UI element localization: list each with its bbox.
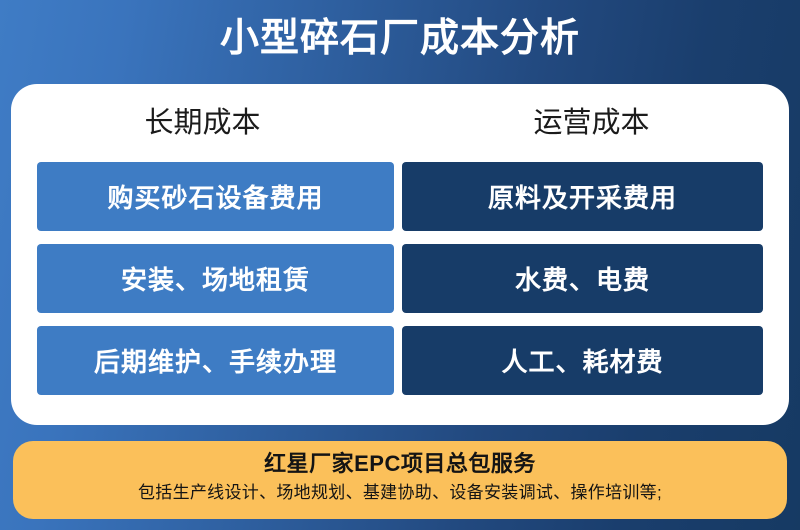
cost-row: 后期维护、手续办理 人工、耗材费 — [37, 326, 763, 395]
cost-item-long-term-1: 购买砂石设备费用 — [37, 162, 394, 231]
cost-item-long-term-3: 后期维护、手续办理 — [37, 326, 394, 395]
cost-comparison-card: 长期成本 运营成本 购买砂石设备费用 原料及开采费用 安装、场地租赁 水费、电费… — [11, 84, 789, 425]
cost-row: 购买砂石设备费用 原料及开采费用 — [37, 162, 763, 231]
cost-items-grid: 购买砂石设备费用 原料及开采费用 安装、场地租赁 水费、电费 后期维护、手续办理… — [37, 162, 763, 395]
footer-banner: 红星厂家EPC项目总包服务 包括生产线设计、场地规划、基建协助、设备安装调试、操… — [13, 441, 787, 519]
cost-item-operating-2: 水费、电费 — [402, 244, 763, 313]
page-title: 小型碎石厂成本分析 — [0, 14, 800, 64]
cost-item-long-term-2: 安装、场地租赁 — [37, 244, 394, 313]
column-header-operating: 运营成本 — [394, 101, 789, 145]
column-headers: 长期成本 运营成本 — [11, 101, 789, 145]
cost-item-operating-3: 人工、耗材费 — [402, 326, 763, 395]
footer-subtitle: 包括生产线设计、场地规划、基建协助、设备安装调试、操作培训等; — [13, 479, 787, 507]
cost-item-operating-1: 原料及开采费用 — [402, 162, 763, 231]
footer-title: 红星厂家EPC项目总包服务 — [13, 449, 787, 479]
column-header-long-term: 长期成本 — [11, 101, 394, 145]
cost-row: 安装、场地租赁 水费、电费 — [37, 244, 763, 313]
